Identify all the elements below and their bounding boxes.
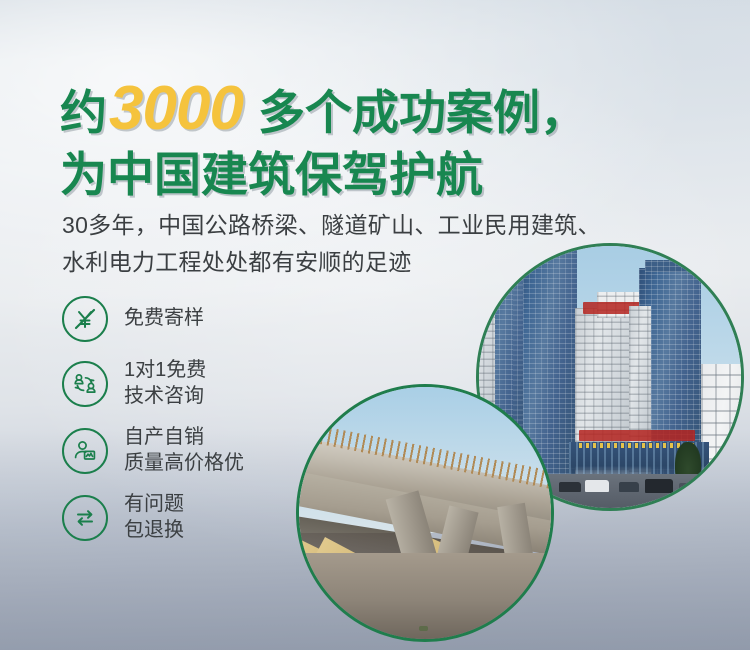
person-chart-icon (62, 428, 108, 474)
promo-banner: 约3000 多个成功案例， 为中国建筑保驾护航 30多年，中国公路桥梁、隧道矿山… (0, 0, 750, 650)
one-on-one-people-icon (62, 361, 108, 407)
subheadline: 30多年，中国公路桥梁、隧道矿山、工业民用建筑、 水利电力工程处处都有安顺的足迹 (62, 207, 722, 282)
feature-item-return-exchange: 有问题 包退换 (62, 492, 362, 543)
feature-item-one-on-one: 1对1免费 技术咨询 (62, 358, 362, 409)
headline-suffix: 多个成功案例， (245, 86, 587, 139)
feature-label: 有问题 包退换 (124, 492, 184, 543)
feature-item-free-sample: 免费寄样 (62, 296, 362, 342)
feature-label: 1对1免费 技术咨询 (124, 358, 206, 409)
headline-line2: 为中国建筑保驾护航 (60, 148, 483, 201)
headline: 约3000 多个成功案例， 为中国建筑保驾护航 (60, 78, 720, 198)
no-fee-yen-icon (62, 296, 108, 342)
feature-item-self-produced: 自产自销 质量高价格优 (62, 425, 362, 476)
subheadline-line-1: 30多年，中国公路桥梁、隧道矿山、工业民用建筑、 (62, 207, 722, 244)
feature-label: 免费寄样 (124, 306, 204, 332)
headline-prefix: 约 (60, 86, 107, 139)
headline-number: 3000 (107, 74, 245, 143)
subheadline-line-2: 水利电力工程处处都有安顺的足迹 (62, 244, 722, 281)
feature-list: 免费寄样 1对1免费 技术咨询 (62, 296, 362, 560)
exchange-arrows-icon (62, 495, 108, 541)
feature-label: 自产自销 质量高价格优 (124, 425, 244, 476)
